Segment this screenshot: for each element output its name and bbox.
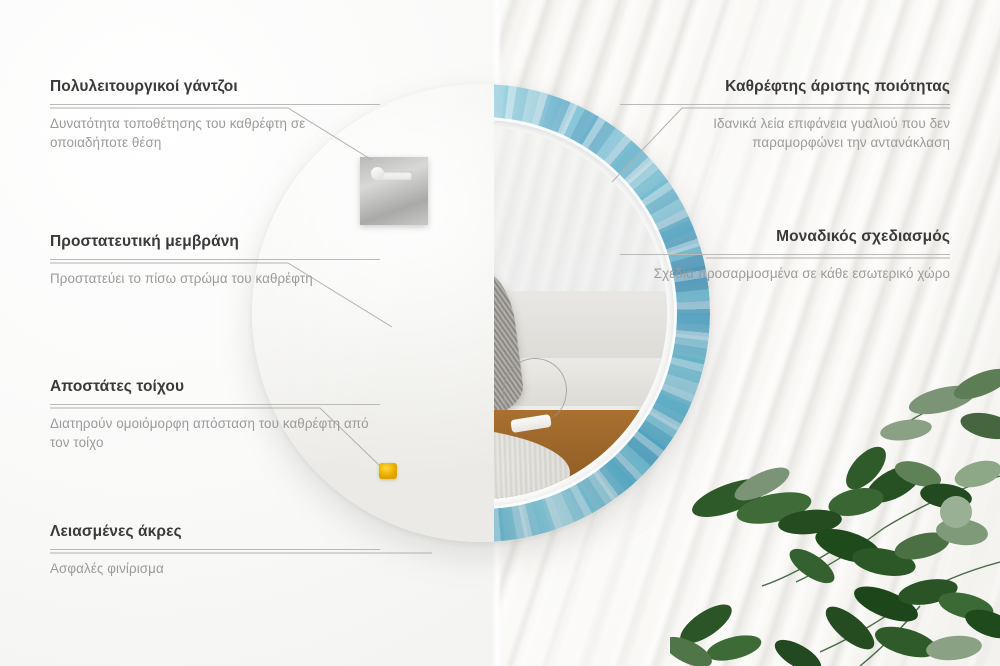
callout-spacers: Αποστάτες τοίχου Διατηρούν ομοιόμορφη απ… bbox=[50, 378, 380, 452]
callout-edges-description: Ασφαλές φινίρισμα bbox=[50, 559, 380, 578]
hook-plate bbox=[360, 157, 428, 225]
callout-membrane-description: Προστατεύει το πίσω στρώμα του καθρέφτη bbox=[50, 269, 380, 288]
callout-design-description: Σχέδια προσαρμοσμένα σε κάθε εσωτερικό χ… bbox=[620, 264, 950, 283]
callout-design-rule bbox=[620, 254, 950, 255]
callout-spacers-description: Διατηρούν ομοιόμορφη απόσταση του καθρέφ… bbox=[50, 414, 380, 453]
callout-spacers-title: Αποστάτες τοίχου bbox=[50, 378, 380, 397]
callout-hooks-description: Δυνατότητα τοποθέτησης του καθρέφτη σε ο… bbox=[50, 114, 380, 153]
callout-design: Μοναδικός σχεδιασμός Σχέδια προσαρμοσμέν… bbox=[620, 228, 950, 283]
callout-hooks-title: Πολυλειτουργικοί γάντζοι bbox=[50, 78, 380, 97]
callout-edges-title: Λειασμένες άκρες bbox=[50, 523, 380, 542]
keyhole-slot-icon bbox=[374, 171, 412, 180]
callout-membrane: Προστατευτική μεμβράνη Προστατεύει το πί… bbox=[50, 233, 380, 288]
callout-membrane-rule bbox=[50, 259, 380, 260]
callout-quality-rule bbox=[620, 104, 950, 105]
callout-edges-rule bbox=[50, 549, 380, 550]
callout-quality-title: Καθρέφτης άριστης ποιότητας bbox=[620, 78, 950, 97]
infographic-stage: Πολυλειτουργικοί γάντζοι Δυνατότητα τοπο… bbox=[0, 0, 1000, 666]
product-mirror bbox=[252, 84, 710, 542]
callout-design-title: Μοναδικός σχεδιασμός bbox=[620, 228, 950, 247]
callout-quality-description: Ιδανικά λεία επιφάνεια γυαλιού που δεν π… bbox=[620, 114, 950, 153]
callout-hooks: Πολυλειτουργικοί γάντζοι Δυνατότητα τοπο… bbox=[50, 78, 380, 152]
callout-spacers-rule bbox=[50, 404, 380, 405]
callout-membrane-title: Προστατευτική μεμβράνη bbox=[50, 233, 380, 252]
callout-edges: Λειασμένες άκρες Ασφαλές φινίρισμα bbox=[50, 523, 380, 578]
callout-hooks-rule bbox=[50, 104, 380, 105]
wall-spacer bbox=[379, 463, 397, 479]
callout-quality: Καθρέφτης άριστης ποιότητας Ιδανικά λεία… bbox=[620, 78, 950, 152]
